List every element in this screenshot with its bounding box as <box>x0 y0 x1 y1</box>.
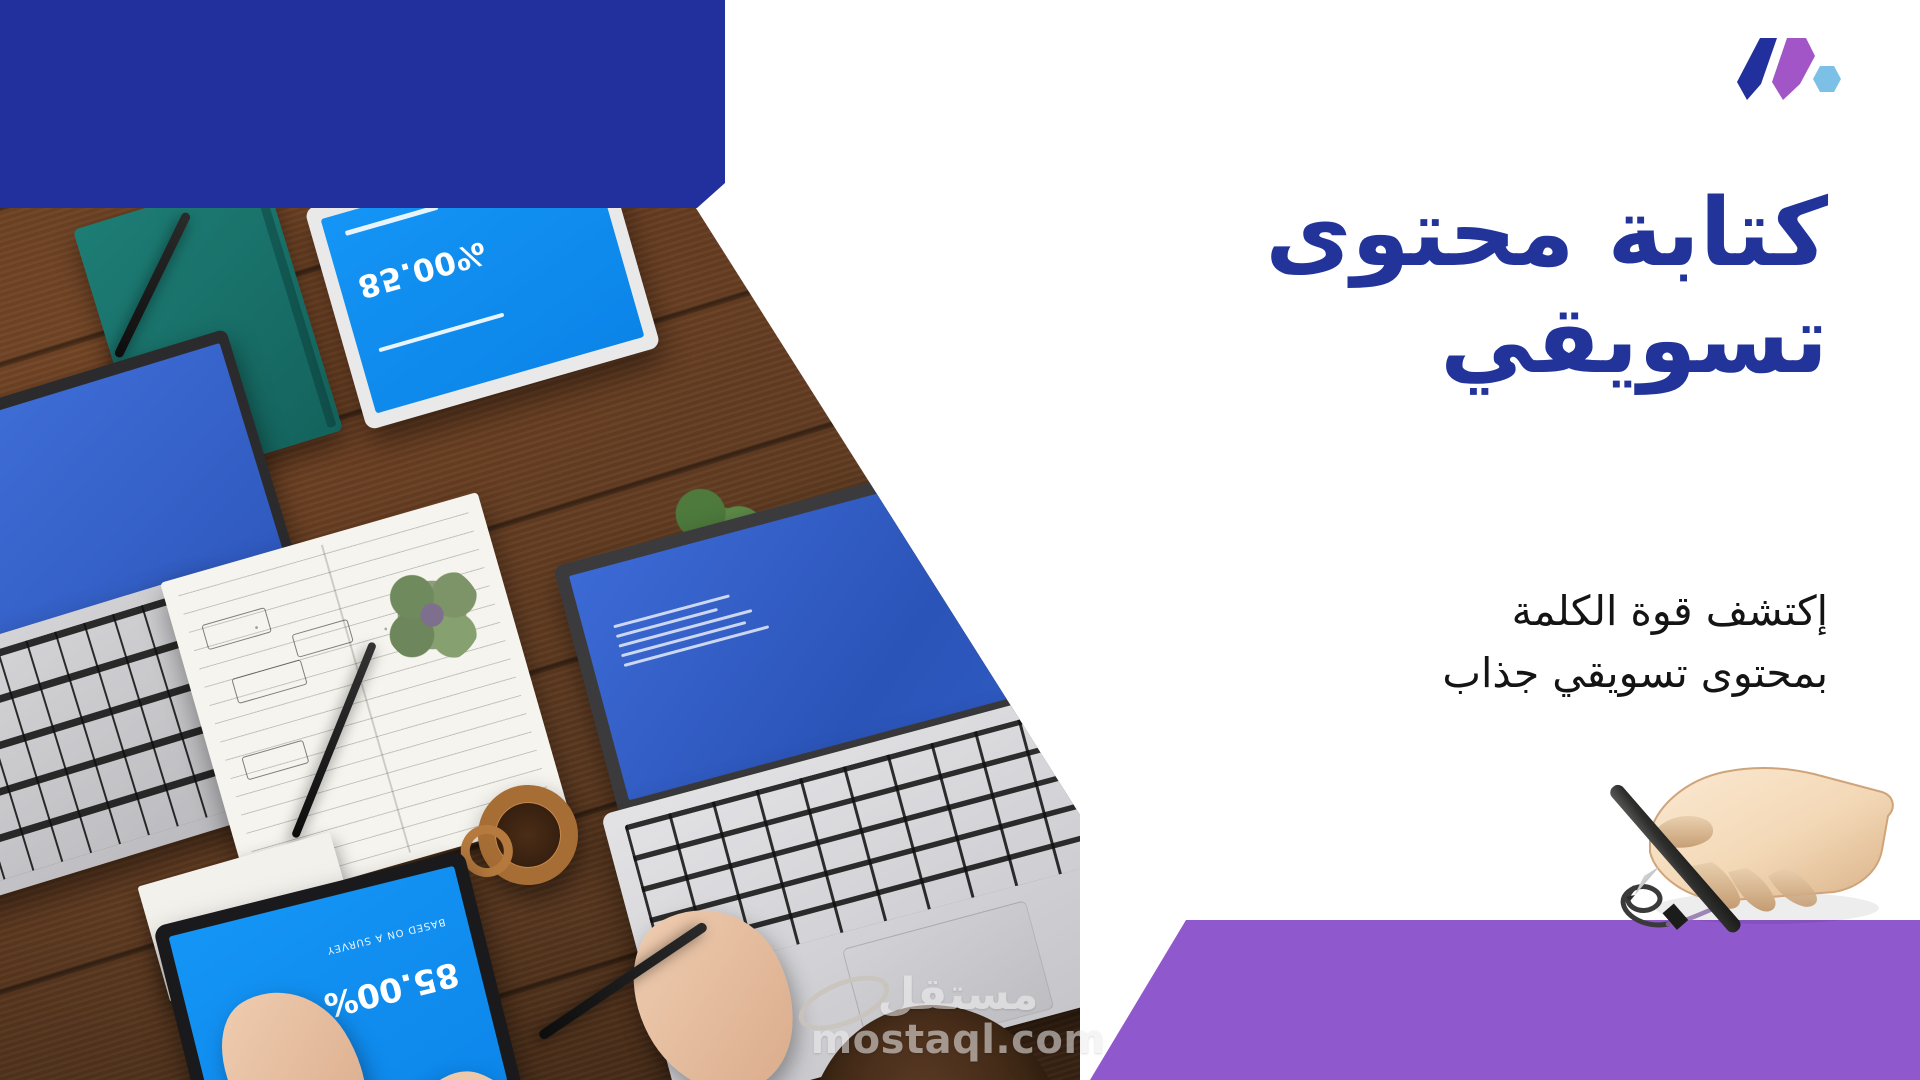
tablet-bottom-caption: BASED ON A SURVEY <box>325 916 446 956</box>
page-title: كتابة محتوى تسويقي <box>1008 180 1828 394</box>
headline-line-1: كتابة محتوى <box>1008 180 1828 287</box>
hand-writing-with-pen-illustration <box>1582 620 1912 950</box>
tablet-top-value: 85.00% <box>354 234 491 305</box>
laptop-right-screen-lines <box>611 580 769 667</box>
succulent-plant-small <box>382 565 482 665</box>
tablet-bottom-value: 85.00% <box>320 955 463 1026</box>
laptop-right-screen-title: DiscussionOutline <box>960 485 1080 559</box>
headline-line-2: تسويقي <box>1008 287 1828 394</box>
mostaql-hexagon-logo[interactable] <box>1734 34 1852 104</box>
team-desk-laptops-photo: 85.00% <box>0 205 1080 1080</box>
top-left-blue-banner <box>0 0 760 215</box>
cover-canvas: 85.00% <box>0 0 1920 1080</box>
